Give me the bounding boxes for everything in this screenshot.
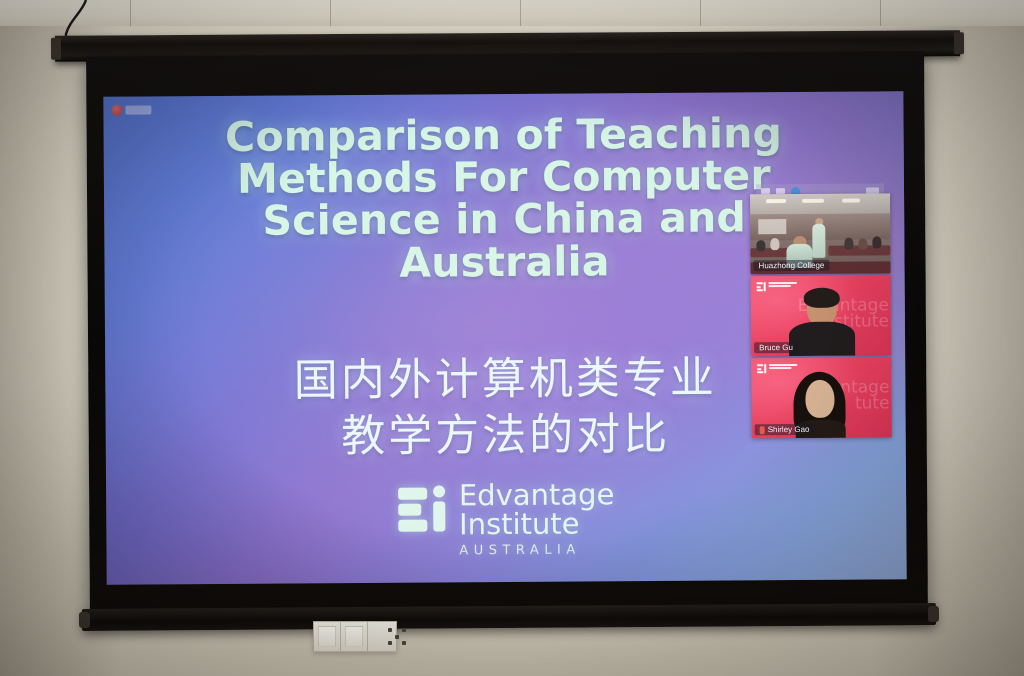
light-switch-1[interactable] <box>314 622 341 651</box>
participant-name: Shirley Gao <box>768 425 810 434</box>
projection-screen: Comparison of Teaching Methods For Compu… <box>86 51 928 617</box>
tile-brand-logo-icon <box>757 282 797 291</box>
logo-line-3: AUSTRALIA <box>459 542 581 558</box>
video-tile-classroom[interactable]: Huazhong College <box>750 193 891 274</box>
wall-outlet-panel[interactable] <box>313 621 397 652</box>
video-tile-bruce-gu[interactable]: EdvantageInstitute Bruce Gu <box>751 275 892 356</box>
tile-brand-logo-icon <box>757 364 797 373</box>
title-line-1: Comparison of Teaching <box>103 111 903 159</box>
projected-slide: Comparison of Teaching Methods For Compu… <box>103 91 906 585</box>
power-socket <box>368 622 396 651</box>
video-conference-panel[interactable]: Huazhong College <box>750 193 892 440</box>
conference-room-scene: Comparison of Teaching Methods For Compu… <box>0 0 1024 676</box>
recording-indicator-icon <box>111 104 151 115</box>
participant-name: Bruce Gu <box>759 343 793 352</box>
participant-name-tag: Bruce Gu <box>754 342 798 353</box>
participant-name: Huazhong College <box>758 261 824 270</box>
muted-microphone-icon <box>760 426 765 434</box>
logo-line-2: Institute <box>459 510 580 540</box>
light-switch-2[interactable] <box>341 622 368 651</box>
video-tile-shirley-gao[interactable]: antagetute Shirley Gao <box>751 357 892 438</box>
participant-name-tag: Shirley Gao <box>755 424 815 435</box>
ei-monogram-icon <box>398 485 446 532</box>
participant-name-tag: Huazhong College <box>753 260 829 272</box>
edvantage-logo: Edvantage Institute AUSTRALIA <box>106 478 907 561</box>
